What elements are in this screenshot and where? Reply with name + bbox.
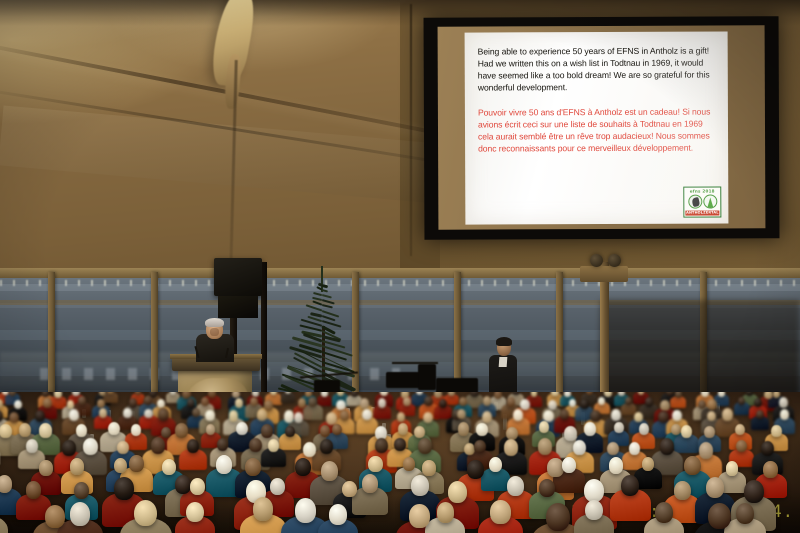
audience-member-head: [614, 422, 623, 433]
audience-member-head: [655, 502, 673, 523]
stage-equipment: [386, 372, 420, 388]
audience-member-head: [217, 438, 229, 451]
audience-member-head: [780, 409, 790, 420]
audience-member-head: [580, 399, 588, 409]
audience-member-head: [414, 426, 425, 438]
audience-member-head: [161, 427, 171, 439]
audience-member-head: [264, 400, 273, 411]
audience-member-head: [457, 409, 466, 419]
audience-member-head: [97, 399, 105, 408]
efns-logo-region-text: ANTHOLZERTAL: [685, 210, 719, 215]
seated-audience: [0, 392, 800, 533]
pa-speaker-lower: [218, 296, 258, 318]
audience-member-head: [285, 426, 295, 437]
audience-member-head: [162, 459, 176, 475]
spotlight-lamp-icon: [590, 254, 603, 267]
audience-member-head: [186, 502, 204, 523]
audience-member-head: [303, 442, 316, 457]
audience-member-head: [236, 422, 248, 436]
audience-member-head: [362, 409, 372, 420]
audience-member-head: [205, 410, 214, 421]
audience-member-head: [507, 476, 524, 496]
pa-speaker-stack: [214, 258, 262, 296]
audience-member-head: [67, 400, 74, 409]
audience-member-head: [403, 457, 415, 471]
audience-member-head: [448, 481, 467, 503]
slide-english-text: Being able to experience 50 years of EFN…: [478, 45, 716, 94]
audience-member-head: [368, 456, 382, 473]
audience-member-head: [83, 438, 98, 455]
audience-member-head: [208, 392, 216, 398]
audience-member-head: [329, 504, 347, 525]
audience-member-head: [398, 423, 408, 434]
audience-member-head: [321, 461, 338, 481]
audience-member-head: [538, 438, 552, 455]
audience-member-head: [513, 409, 523, 421]
audience-member-head: [779, 397, 789, 408]
mic-boom: [392, 362, 438, 364]
ceiling-beam: [0, 268, 800, 278]
ceiling-vertical-seam-right: [410, 4, 412, 256]
audience-member-head: [378, 398, 386, 407]
audience-member-head: [585, 500, 603, 521]
audience-member-head: [295, 458, 311, 476]
audience-member-head: [546, 503, 570, 531]
slide-french-text: Pouvoir vivre 50 ans d'EFNS à Antholz es…: [478, 106, 716, 155]
standing-attendee-hair: [496, 337, 512, 346]
audience-member-head: [736, 440, 747, 452]
audience-member-head: [437, 502, 455, 523]
tree-branch: [322, 304, 334, 308]
audience-member-head: [681, 425, 692, 438]
audience-member-head: [639, 423, 649, 435]
audience-member-head: [144, 409, 152, 418]
audience-member-head: [489, 457, 502, 472]
audience-member-head: [340, 410, 349, 421]
audience-member-head: [726, 461, 738, 475]
audience-member-head: [321, 392, 328, 397]
audience-member-head: [671, 424, 681, 435]
audience-member-head: [483, 396, 491, 405]
audience-member-head: [74, 482, 89, 499]
audience-member-head: [507, 397, 515, 407]
audience-member-head: [476, 423, 487, 436]
audience-member-head: [763, 461, 777, 478]
audience-member-head: [494, 392, 502, 399]
music-stand: [418, 364, 436, 390]
audience-member-head: [482, 411, 492, 423]
audience-member-head: [394, 438, 405, 451]
audience-member-head: [761, 441, 775, 457]
audience-member-head: [332, 424, 342, 435]
audience-member-head: [439, 399, 447, 408]
audience-member-head: [108, 422, 120, 436]
audience-member-head: [771, 425, 781, 437]
audience-member-head: [722, 408, 733, 421]
audience-member-head: [351, 392, 358, 397]
window-reflection-band: [0, 284, 800, 291]
audience-member-head: [584, 479, 604, 502]
audience-member-head: [625, 397, 632, 405]
audience-member-head: [629, 442, 640, 455]
audience-member-head: [458, 422, 470, 436]
audience-member-head: [548, 400, 557, 410]
audience-member-head: [26, 439, 38, 453]
audience-member-head: [362, 474, 378, 492]
audience-member-head: [375, 438, 389, 454]
audience-member-head: [294, 412, 303, 423]
audience-member-head: [573, 440, 586, 455]
audience-member-head: [70, 458, 84, 474]
audience-member-head: [320, 425, 331, 437]
audience-member-head: [295, 498, 316, 523]
audience-member-head: [117, 441, 128, 454]
audience-member-head: [474, 440, 485, 453]
audience-member-head: [187, 398, 195, 408]
audience-member-head: [611, 409, 621, 421]
standing-attendee-shirt: [499, 357, 508, 367]
screen-surface: Being able to experience 50 years of EFN…: [438, 25, 766, 229]
photo-scene: Being able to experience 50 years of EFN…: [0, 0, 800, 533]
presenter-hair: [205, 318, 224, 327]
audience-member-head: [543, 410, 554, 422]
audience-member-head: [699, 442, 713, 458]
audience-member-head: [467, 460, 483, 479]
audience-member-head: [70, 502, 91, 526]
audience-member-head: [634, 412, 643, 422]
efns-logo-emblems: [688, 193, 717, 210]
audience-member-head: [298, 398, 306, 408]
audience-member-head: [43, 398, 51, 408]
audience-member-head: [0, 424, 12, 438]
audience-member-head: [736, 503, 755, 525]
audience-member-head: [19, 423, 31, 437]
audience-member-head: [253, 497, 274, 521]
audience-member-head: [268, 439, 279, 452]
audience-member-head: [584, 422, 596, 436]
audience-member-head: [403, 397, 410, 406]
audience-member-head: [2, 392, 9, 395]
audience-member-head: [674, 481, 691, 500]
audience-member-head: [134, 500, 157, 527]
audience-member-head: [249, 438, 262, 453]
audience-member-head: [609, 457, 623, 474]
audience-member-head: [114, 458, 127, 474]
audience-member-head: [284, 410, 295, 422]
audience-member-head: [504, 439, 518, 455]
audience-member-head: [201, 397, 209, 406]
audience-member-head: [26, 481, 41, 499]
audience-member-head: [706, 477, 724, 498]
projection-screen: Being able to experience 50 years of EFN…: [424, 16, 780, 240]
audience-member-head: [560, 409, 569, 420]
audience-member-head: [320, 439, 333, 454]
audience-member-head: [216, 455, 232, 474]
audience-member-head: [129, 455, 144, 472]
audience-member-head: [360, 398, 369, 409]
audience-member-head: [698, 400, 706, 409]
audience-member-head: [422, 460, 435, 476]
audience-member-head: [123, 408, 132, 418]
audience-member-head: [434, 392, 442, 398]
audience-member-head: [756, 410, 764, 419]
audience-member-head: [490, 500, 510, 524]
audience-member-head: [158, 408, 169, 421]
audience-member-head: [704, 426, 714, 438]
audience-member-head: [9, 392, 16, 396]
audience-member-head: [411, 475, 429, 496]
audience-member-head: [131, 424, 141, 435]
audience-member-head: [744, 480, 764, 503]
audience-member-head: [9, 412, 19, 423]
audience-member-head: [76, 424, 88, 438]
audience-member-head: [336, 400, 345, 411]
presenter-face-shadow: [210, 328, 219, 336]
tree-emblem-icon: [703, 195, 717, 209]
audience-member-head: [660, 438, 674, 455]
audience-member-head: [308, 397, 317, 407]
audience-member-head: [506, 427, 518, 440]
audience-member-head: [69, 409, 79, 421]
audience-member-head: [175, 475, 191, 494]
audience-member-head: [621, 475, 639, 496]
audience-member-head: [380, 392, 388, 396]
stage-spotlights: [580, 266, 628, 282]
audience-member-head: [645, 397, 654, 407]
audience-member-head: [738, 397, 745, 405]
audience-member-head: [675, 392, 682, 398]
audience-member-head: [642, 457, 655, 472]
audience-member-head: [409, 504, 429, 528]
audience-member-head: [114, 477, 133, 499]
audience-member-head: [397, 412, 406, 422]
audience-member-head: [539, 479, 555, 497]
lighting-post: [600, 262, 609, 412]
audience-member-head: [261, 424, 273, 438]
audience-member-head: [539, 421, 549, 432]
audience-member-head: [564, 426, 577, 441]
audience-member-head: [192, 408, 200, 417]
audience-member-head: [39, 423, 52, 438]
audience-member-head: [470, 392, 478, 397]
audience-member-head: [423, 412, 433, 423]
audience-member-head: [245, 458, 261, 476]
audience-member-head: [684, 456, 701, 475]
audience-member-head: [190, 478, 205, 495]
audience-member-head: [62, 440, 75, 455]
audience-member-head: [39, 460, 52, 476]
audience-member-head: [551, 392, 558, 396]
efns-event-logo: efns 2018 ANTHOLZERTAL: [683, 186, 721, 217]
audience-member-head: [666, 392, 673, 396]
audience-member-head: [707, 399, 717, 410]
audience-member-head: [598, 397, 605, 405]
audience-member-head: [342, 481, 356, 498]
audience-member-head: [78, 396, 86, 405]
audience-member-head: [660, 400, 670, 411]
audience-member-head: [151, 437, 165, 453]
slide-text-body: Being able to experience 50 years of EFN…: [465, 31, 729, 154]
audience-member-head: [326, 412, 337, 425]
audience-member-head: [229, 410, 239, 421]
presentation-slide: Being able to experience 50 years of EFN…: [465, 31, 729, 224]
tree-branch: [322, 294, 332, 298]
audience-member-head: [562, 457, 576, 473]
audience-member-head: [754, 398, 762, 408]
skier-emblem-icon: [688, 195, 702, 209]
audience-member-head: [708, 503, 731, 529]
audience-member-head: [99, 408, 107, 417]
audience-member-head: [270, 478, 285, 496]
spotlight-lamp-icon: [608, 254, 621, 267]
audience-member-head: [45, 505, 65, 528]
audience-member-head: [187, 439, 199, 453]
audience-member-head: [658, 411, 669, 423]
audience-member-head: [520, 399, 530, 410]
audience-member-head: [764, 392, 772, 399]
audience-member-head: [547, 458, 563, 477]
audience-member-head: [35, 410, 45, 422]
audience-member-head: [129, 398, 137, 408]
audience-member-head: [175, 423, 188, 438]
audience-member-head: [418, 438, 432, 454]
tree-branch: [322, 289, 328, 292]
